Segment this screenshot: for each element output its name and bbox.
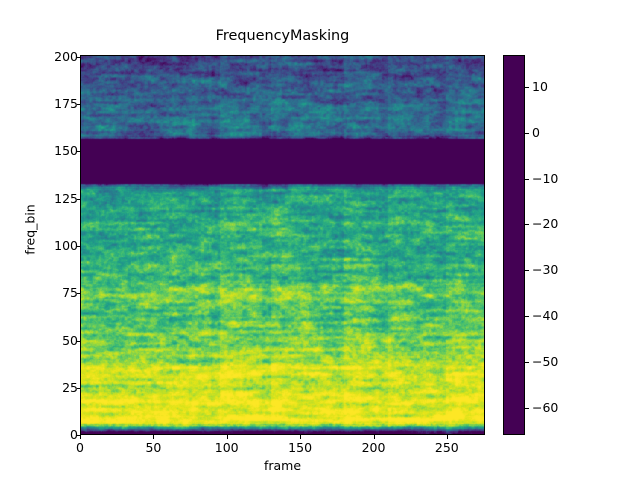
colorbar-tick-label: −50 xyxy=(532,355,558,368)
colorbar-gradient xyxy=(504,56,524,434)
y-axis-label: freq_bin xyxy=(23,180,38,280)
colorbar-tick-mark xyxy=(525,133,529,134)
x-tick-label: 50 xyxy=(145,441,161,454)
y-tick-label: 100 xyxy=(54,239,78,252)
x-tick-label: 0 xyxy=(76,441,84,454)
x-tick-mark xyxy=(447,435,448,439)
y-tick-label: 75 xyxy=(62,286,78,299)
colorbar-tick-mark xyxy=(525,179,529,180)
colorbar-tick-mark xyxy=(525,408,529,409)
colorbar-tick-label: −30 xyxy=(532,263,558,276)
x-tick-label: 150 xyxy=(288,441,312,454)
page-title: FrequencyMasking xyxy=(80,27,485,45)
colorbar-tick-label: −40 xyxy=(532,309,558,322)
y-tick-label: 175 xyxy=(54,97,78,110)
colorbar-tick-label: 10 xyxy=(532,80,548,93)
x-tick-mark xyxy=(300,435,301,439)
colorbar-tick-label: −10 xyxy=(532,172,558,185)
matplotlib-figure: FrequencyMasking 0255075100125150175200 … xyxy=(0,0,640,480)
colorbar-tick-mark xyxy=(525,270,529,271)
y-tick-label: 125 xyxy=(54,192,78,205)
colorbar-tick-mark xyxy=(525,362,529,363)
spectrogram-axes xyxy=(80,55,485,435)
x-tick-label: 200 xyxy=(362,441,386,454)
y-tick-label: 200 xyxy=(54,50,78,63)
y-tick-label: 25 xyxy=(62,381,78,394)
y-tick-label: 150 xyxy=(54,144,78,157)
x-tick-mark xyxy=(153,435,154,439)
colorbar-tick-mark xyxy=(525,224,529,225)
x-tick-label: 100 xyxy=(215,441,239,454)
colorbar-tick-label: 0 xyxy=(532,126,540,139)
colorbar-tick-mark xyxy=(525,316,529,317)
colorbar-tick-label: −20 xyxy=(532,217,558,230)
colorbar-tick-mark xyxy=(525,87,529,88)
colorbar xyxy=(503,55,525,435)
y-tick-label: 50 xyxy=(62,334,78,347)
x-axis-label: frame xyxy=(80,458,485,473)
colorbar-tick-label: −60 xyxy=(532,401,558,414)
x-tick-mark xyxy=(227,435,228,439)
spectrogram-heatmap xyxy=(81,56,484,434)
x-tick-mark xyxy=(80,435,81,439)
x-tick-mark xyxy=(374,435,375,439)
x-tick-label: 250 xyxy=(435,441,459,454)
